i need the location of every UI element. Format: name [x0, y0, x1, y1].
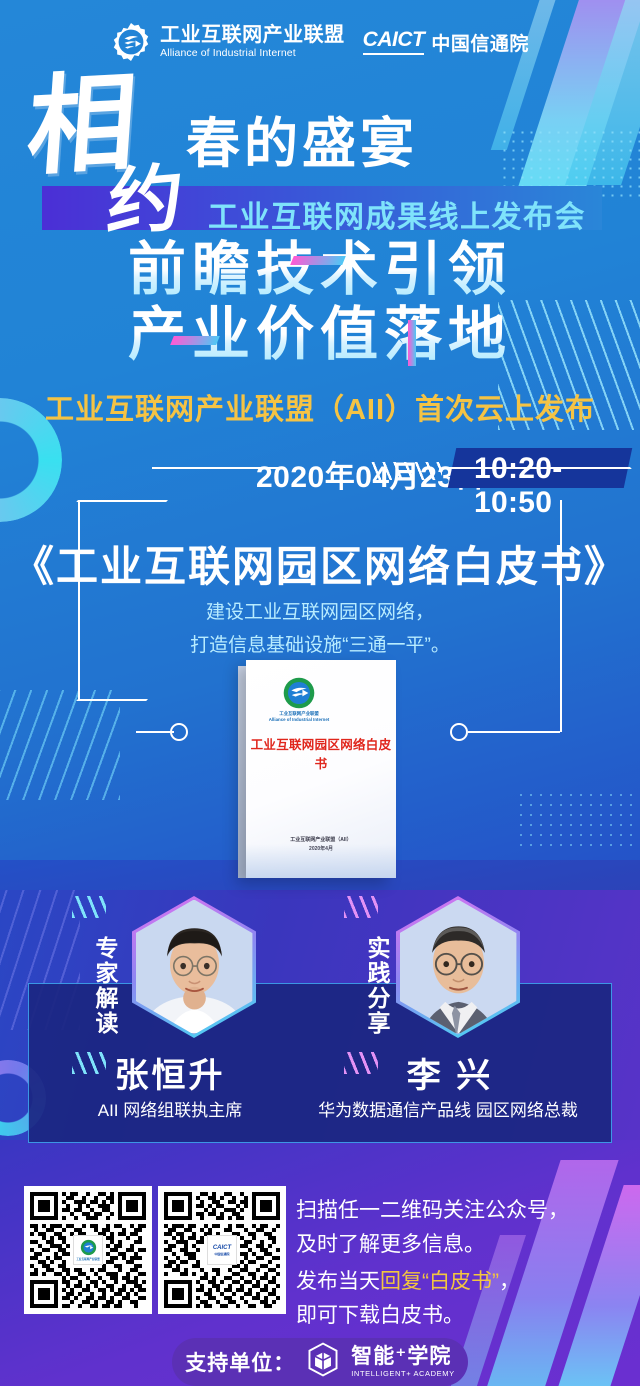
caict-name-cn: 中国信通院 [431, 29, 529, 56]
decor-ribbon-slash-top-1 [72, 896, 106, 918]
hero-gold-line: 工业互联网产业联盟（AII）首次云上发布 [0, 386, 640, 428]
qr-code-caict-image: CAICT 中国信通院 [164, 1192, 280, 1308]
aii-name-cn: 工业互联网产业联盟 [160, 25, 345, 45]
whitepaper-subtitle-line1: 建设工业互联网园区网络， [0, 596, 640, 629]
hero-headline: 前瞻技术引领 产业价值落地 [0, 238, 640, 368]
qr-code-caict[interactable]: CAICT 中国信通院 [158, 1186, 286, 1314]
speaker-2-name: 李 兴 [320, 1048, 580, 1097]
support-badge: 支持单位： 智能⁺学院 INTELLIGENT+ ACADEMY [172, 1338, 468, 1386]
cube-icon [307, 1342, 339, 1382]
aii-logo-text: 工业互联网产业联盟 Alliance of Industrial Interne… [160, 25, 345, 59]
brush-char-yue: 约 [105, 165, 186, 238]
qr-code-aii[interactable]: 工业互联网产业联盟 [24, 1186, 152, 1314]
hero-headline-small: 春的盛宴 [186, 117, 418, 171]
poster-canvas: 工业互联网产业联盟 Alliance of Industrial Interne… [0, 0, 640, 1386]
speaker-1-role: AII 网络组联执主席 [20, 1096, 320, 1121]
qr-note-line4: 即可下载白皮书。 [296, 1299, 520, 1333]
speaker-2-ribbon: 实践分享 [348, 922, 390, 1050]
hero-headline-line2: 产业价值落地 [0, 303, 640, 368]
qr-note-block-1: 扫描任一二维码关注公众号， 及时了解更多信息。 [296, 1194, 569, 1262]
aii-logo: 工业互联网产业联盟 Alliance of Industrial Interne… [111, 22, 345, 62]
caict-mark-icon: CAICT 中国信通院 [207, 1235, 237, 1265]
aii-gear-icon: 工业互联网产业联盟 [73, 1235, 103, 1265]
support-label: 支持单位： [185, 1347, 295, 1377]
qr-caict-center-label: 中国信通院 [214, 1252, 229, 1256]
caict-mark-icon: CAICT [363, 29, 425, 54]
qr-note-line1: 扫描任一二维码关注公众号， [296, 1194, 569, 1228]
whitepaper-subtitle-line2: 打造信息基础设施“三通一平”。 [0, 629, 640, 662]
qr-aii-center-label: 工业互联网产业联盟 [76, 1257, 99, 1261]
academy-name-cn: 智能⁺学院 [351, 1346, 454, 1367]
book-cover-title: 工业互联网园区网络白皮书 [246, 734, 396, 772]
hero-subtitle-text: 工业互联网成果线上发布会 [208, 192, 586, 236]
speaker-2-role: 华为数据通信产品线 园区网络总裁 [298, 1096, 598, 1121]
qr-code-aii-image: 工业互联网产业联盟 [30, 1192, 146, 1308]
header-logos: 工业互联网产业联盟 Alliance of Industrial Interne… [0, 22, 640, 62]
speaker-1-ribbon: 专家解读 [76, 922, 118, 1050]
book-cover-artwork [246, 844, 396, 878]
aii-name-en: Alliance of Industrial Internet [160, 48, 345, 59]
academy-name-en: INTELLIGENT+ ACADEMY [351, 1370, 454, 1378]
gear-emblem-icon [111, 22, 151, 62]
academy-logo-text: 智能⁺学院 INTELLIGENT+ ACADEMY [351, 1346, 454, 1378]
speaker-1-name: 张恒升 [40, 1048, 300, 1097]
book-logo-caption: 工业互联网产业联盟 Alliance of Industrial Interne… [266, 711, 332, 724]
qr-note-keyword: 回复“白皮书” [380, 1270, 499, 1293]
qr-note-line3-prefix: 发布当天 [296, 1270, 380, 1293]
hero-headline-line1: 前瞻技术引领 [0, 238, 640, 303]
qr-note-block-2: 发布当天回复“白皮书”， 即可下载白皮书。 [296, 1265, 520, 1333]
aii-gear-icon [282, 676, 316, 710]
qr-note-line3-suffix: ， [499, 1270, 520, 1293]
book-logo-caption-en: Alliance of Industrial Internet [266, 717, 332, 723]
book-mockup: 工业互联网产业联盟 Alliance of Industrial Interne… [246, 660, 396, 878]
whitepaper-title: 《工业互联网园区网络白皮书》 [0, 533, 640, 594]
decor-ribbon-slash-top-2 [344, 896, 378, 918]
speaker-1-avatar [132, 896, 256, 1038]
qr-note-line3: 发布当天回复“白皮书”， [296, 1265, 520, 1299]
whitepaper-subtitle: 建设工业互联网园区网络， 打造信息基础设施“三通一平”。 [0, 596, 640, 663]
caict-logo: CAICT 中国信通院 [363, 29, 529, 56]
speaker-2-avatar [396, 896, 520, 1038]
qr-note-line2: 及时了解更多信息。 [296, 1228, 569, 1262]
